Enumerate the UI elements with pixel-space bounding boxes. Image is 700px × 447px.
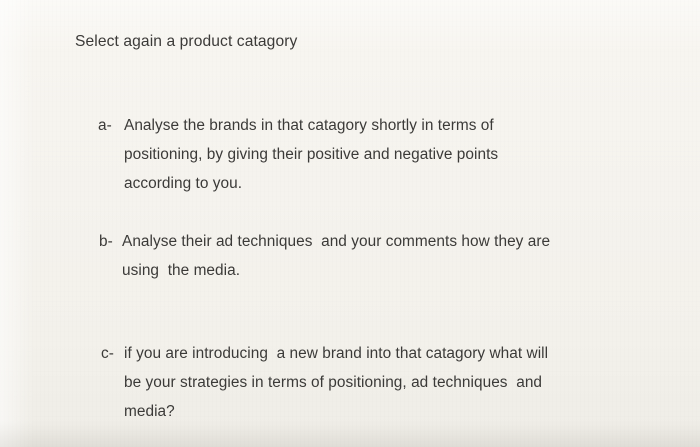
list-item-a-text: Analyse the brands in that catagory shor… bbox=[124, 111, 498, 198]
list-item-c: c- if you are introducing a new brand in… bbox=[101, 339, 548, 426]
text-line: using the media. bbox=[122, 256, 550, 285]
text-line: if you are introducing a new brand into … bbox=[124, 339, 548, 368]
text-line: according to you. bbox=[124, 169, 498, 198]
text-line: Analyse their ad techniques and your com… bbox=[122, 227, 550, 256]
document-page: Select again a product catagory a- Analy… bbox=[0, 0, 700, 447]
page-title: Select again a product catagory bbox=[75, 31, 297, 53]
text-line: Analyse the brands in that catagory shor… bbox=[124, 111, 498, 140]
list-marker-c: c- bbox=[101, 339, 124, 368]
list-item-b-text: Analyse their ad techniques and your com… bbox=[122, 227, 550, 285]
list-item-c-text: if you are introducing a new brand into … bbox=[124, 339, 548, 426]
text-line: be your strategies in terms of positioni… bbox=[124, 368, 548, 397]
text-line: positioning, by giving their positive an… bbox=[124, 140, 498, 169]
list-item-b: b- Analyse their ad techniques and your … bbox=[99, 227, 550, 285]
list-marker-b: b- bbox=[99, 227, 122, 256]
text-line: media? bbox=[124, 397, 548, 426]
list-item-a: a- Analyse the brands in that catagory s… bbox=[98, 111, 498, 198]
left-edge-highlight bbox=[0, 0, 34, 447]
list-marker-a: a- bbox=[98, 111, 124, 140]
